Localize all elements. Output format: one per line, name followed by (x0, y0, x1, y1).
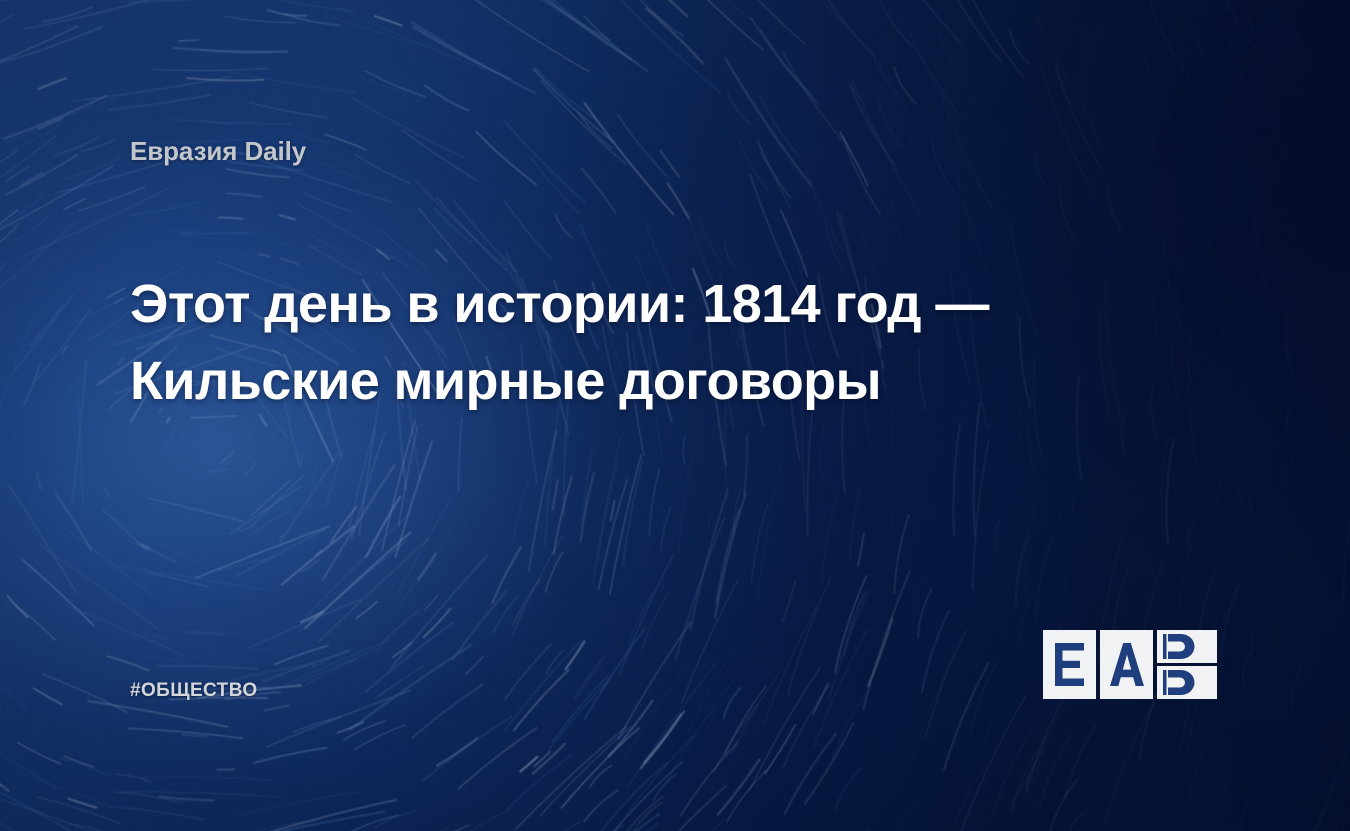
logo-letter-d-column (1157, 630, 1217, 699)
eadaily-logo[interactable] (1043, 630, 1221, 700)
logo-letter-a-tile (1100, 630, 1153, 699)
logo-letter-d-bottom-tile (1157, 666, 1217, 699)
logo-letter-e-tile (1043, 630, 1096, 699)
article-category-tag: #ОБЩЕСТВО (130, 680, 258, 702)
site-name: Евразия Daily (130, 136, 306, 167)
article-share-card: Евразия Daily Этот день в истории: 1814 … (0, 0, 1350, 831)
logo-letter-d-top-tile (1157, 630, 1217, 663)
article-headline: Этот день в истории: 1814 год — Кильские… (130, 266, 1035, 419)
